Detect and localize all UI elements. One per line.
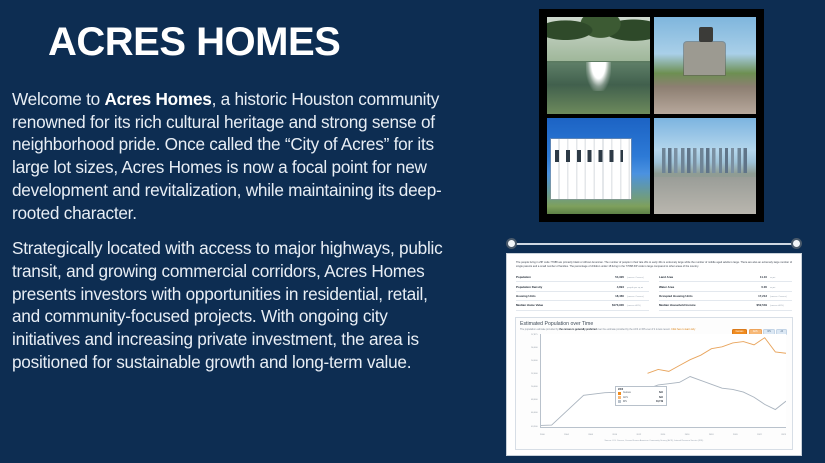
- slider-handle-left[interactable]: [506, 238, 517, 249]
- census-swatch-icon: [618, 392, 621, 395]
- stat-value: 17,213: [758, 294, 767, 298]
- table-row: Land Area 11.10 sq mi: [659, 273, 792, 282]
- intro-bold-term: Acres Homes: [104, 89, 211, 109]
- stats-column-left: Population 54,320 (source: Census) Popul…: [516, 273, 649, 311]
- photo-collage: [539, 9, 764, 222]
- houston-skyline-highway-photo: [654, 118, 757, 215]
- stat-value: 0.00: [761, 285, 767, 289]
- chart-tooltip: 2000 Census N/A ACS N/A: [615, 386, 667, 407]
- stat-source: people per sq mi: [627, 287, 649, 289]
- panel-card: The people living in ZIP code 77088 are …: [506, 253, 802, 456]
- stat-label: Occupied Housing Units: [659, 294, 758, 298]
- x-tick: 2014: [661, 434, 666, 436]
- population-chart: Estimated Population over Time The popul…: [515, 317, 793, 450]
- investment-paragraph: Strategically located with access to maj…: [12, 237, 460, 373]
- tooltip-series-value: N/A: [659, 392, 663, 394]
- stat-label: Median Household Income: [659, 303, 757, 307]
- tooltip-row: ACS N/A: [618, 396, 663, 399]
- intro-rest: , a historic Houston community renowned …: [12, 89, 442, 223]
- demographics-data-panel: The people living in ZIP code 77088 are …: [506, 238, 802, 456]
- intro-paragraph: Welcome to Acres Homes, a historic Houst…: [12, 88, 460, 224]
- chart-plot-wrapper: 57,875 56,000 54,000 52,000 50,000 48,00…: [520, 334, 788, 440]
- table-row: Water Area 0.00 sq mi: [659, 282, 792, 291]
- x-tick: 2000: [540, 434, 545, 436]
- table-row: Housing Units 18,460 (source: Census): [516, 292, 649, 301]
- x-tick: 2022: [757, 434, 762, 436]
- chart-subtitle-before: The population estimate provided by: [520, 328, 559, 331]
- acs-swatch-icon: [618, 396, 621, 399]
- stat-value: $52,549: [757, 303, 767, 307]
- stat-value: 18,460: [615, 294, 624, 298]
- tooltip-series-name: IRS: [623, 401, 656, 403]
- chart-lines-svg: [541, 334, 786, 427]
- y-tick: 56,000: [531, 347, 537, 349]
- series-line-acs: [648, 337, 786, 373]
- y-tick: 54,000: [531, 360, 537, 362]
- chart-title: Estimated Population over Time: [520, 321, 788, 327]
- stat-value: 54,320: [615, 275, 624, 279]
- y-tick: 57,875: [531, 334, 537, 336]
- tooltip-series-name: Census: [623, 392, 659, 394]
- irs-swatch-icon: [618, 400, 621, 403]
- x-tick: 2016: [685, 434, 690, 436]
- stat-source: (source: ACS): [770, 305, 792, 307]
- y-tick: 46,000: [531, 412, 537, 414]
- collage-grid: [547, 17, 756, 214]
- learn-why-link[interactable]: Click here to learn why: [671, 328, 695, 331]
- stat-source: sq mi: [770, 287, 792, 289]
- slider-track: [510, 243, 798, 245]
- table-row: Median Home Value $173,900 (source: ACS): [516, 301, 649, 310]
- statistics-grid: Population 54,320 (source: Census) Popul…: [513, 272, 795, 314]
- stats-column-right: Land Area 11.10 sq mi Water Area 0.00 sq…: [659, 273, 792, 311]
- stat-label: Population: [516, 275, 615, 279]
- tooltip-series-name: ACS: [623, 397, 659, 399]
- slider-handle-right[interactable]: [791, 238, 802, 249]
- demographics-blurb: The people living in ZIP code 77088 are …: [513, 259, 795, 272]
- x-tick: 2010: [612, 434, 617, 436]
- tooltip-row: Census N/A: [618, 392, 663, 395]
- tooltip-series-value: N/A: [659, 397, 663, 399]
- chart-subtitle-bold: the census is generally preferred: [559, 328, 596, 331]
- stat-value: 4,894: [617, 285, 624, 289]
- stat-source: sq mi: [770, 277, 792, 279]
- x-tick: 2006: [588, 434, 593, 436]
- tooltip-series-value: 43,749: [656, 401, 663, 403]
- table-row: Population Density 4,894 people per sq m…: [516, 282, 649, 291]
- x-tick: 2023: [781, 434, 786, 436]
- stat-source: (source: ACS): [627, 305, 649, 307]
- table-row: Population 54,320 (source: Census): [516, 273, 649, 282]
- stat-label: Housing Units: [516, 294, 615, 298]
- y-tick: 43,500: [531, 426, 537, 428]
- stat-label: Population Density: [516, 285, 617, 289]
- x-tick: 2004: [564, 434, 569, 436]
- slide-root: ACRES HOMES Welcome to Acres Homes, a hi…: [0, 0, 825, 463]
- plot-area: 2000 Census N/A ACS N/A: [540, 334, 786, 428]
- panel-slider[interactable]: [506, 238, 802, 250]
- y-tick: 48,000: [531, 399, 537, 401]
- y-axis-ticks: 57,875 56,000 54,000 52,000 50,000 48,00…: [520, 334, 539, 428]
- stat-label: Median Home Value: [516, 303, 612, 307]
- tooltip-row: IRS 43,749: [618, 400, 663, 403]
- chart-source-note: Source: U.S. Census, Census Bureau Ameri…: [520, 440, 788, 442]
- table-row: Occupied Housing Units 17,213 (source: C…: [659, 292, 792, 301]
- page-title: ACRES HOMES: [12, 22, 460, 62]
- x-tick: 2018: [709, 434, 714, 436]
- park-fountain-photo: [547, 17, 650, 114]
- stat-source: (source: Census): [770, 296, 792, 298]
- chart-subtitle-after: over the estimate provided by the ACS or…: [597, 328, 671, 331]
- left-content-column: ACRES HOMES Welcome to Acres Homes, a hi…: [0, 0, 500, 463]
- table-row: Median Household Income $52,549 (source:…: [659, 301, 792, 310]
- x-axis-ticks: 2000 2004 2006 2010 2012 2014 2016 2018 …: [540, 434, 786, 436]
- intro-lead: Welcome to: [12, 89, 104, 109]
- stat-label: Land Area: [659, 275, 760, 279]
- sam-houston-monument-photo: [654, 17, 757, 114]
- x-tick: 2020: [733, 434, 738, 436]
- tooltip-title: 2000: [618, 389, 663, 391]
- stat-value: 11.10: [760, 275, 767, 279]
- stat-value: $173,900: [612, 303, 624, 307]
- x-tick: 2012: [637, 434, 642, 436]
- y-tick: 52,000: [531, 373, 537, 375]
- stat-source: (source: Census): [627, 296, 649, 298]
- y-tick: 50,000: [531, 386, 537, 388]
- stat-source: (source: Census): [627, 277, 649, 279]
- townhomes-photo: [547, 118, 650, 215]
- stat-label: Water Area: [659, 285, 761, 289]
